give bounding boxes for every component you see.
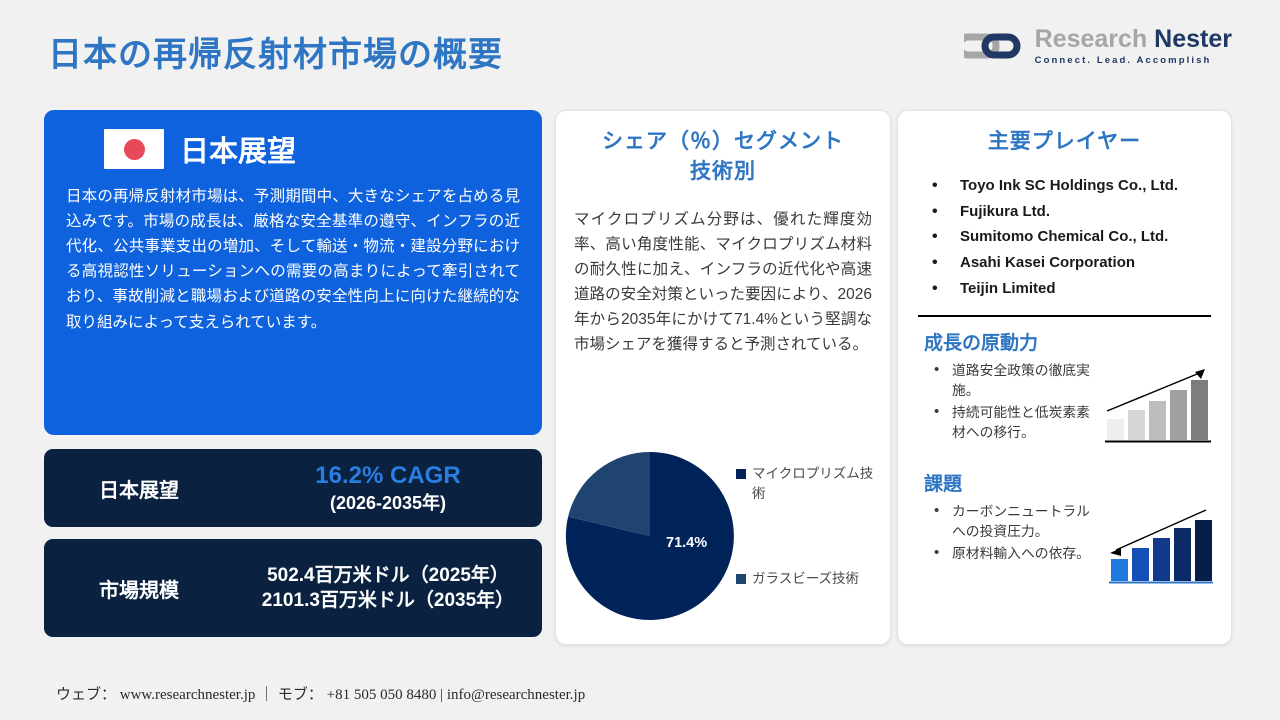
stat-cagr-value: 16.2% CAGR [234,460,542,492]
legend-label-glassbeads: ガラスビーズ技術 [752,569,859,589]
list-item: カーボンニュートラルへの投資圧力。 [928,502,1101,542]
logo-tagline: Connect. Lead. Accomplish [1035,56,1232,66]
share-segment-title-line1: シェア（％）セグメント [574,127,872,157]
growth-drivers-list: 道路安全政策の徹底実施。 持続可能性と低炭素素材への移行。 [916,361,1101,446]
japan-outlook-title: 日本展望 [180,128,296,170]
key-players-title: 主要プレイヤー [916,127,1213,157]
japan-flag-icon [104,129,164,169]
technology-share-pie-chart: 71.4% マイクロプリズム技術 ガラスビーズ技術 [556,456,892,641]
key-players-list: Toyo Ink SC Holdings Co., Ltd. Fujikura … [916,173,1213,302]
growth-drivers-section: 道路安全政策の徹底実施。 持続可能性と低炭素素材への移行。 [916,361,1213,447]
legend-item-microprism: マイクロプリズム技術 [736,464,886,505]
page-header: 日本の再帰反射材市場の概要 Research Nester Connect. L… [0,0,1280,100]
ascending-gray-bar-chart-icon [1101,363,1213,447]
share-segment-column: シェア（％）セグメント 技術別 マイクロプリズム分野は、優れた輝度効率、高い角度… [555,110,891,645]
list-item: 持続可能性と低炭素素材への移行。 [928,403,1101,443]
section-divider [918,315,1211,317]
challenges-list: カーボンニュートラルへの投資圧力。 原材料輸入への依存。 [916,502,1101,566]
stat-card-market-size: 市場規模 502.4百万米ドル（2025年） 2101.3百万米ドル（2035年… [44,539,542,637]
challenges-section: カーボンニュートラルへの投資圧力。 原材料輸入への依存。 [916,502,1213,588]
left-column: 日本展望 日本の再帰反射材市場は、予測期間中、大きなシェアを占める見込みです。市… [44,110,542,637]
pie-chart-svg [560,446,740,626]
share-segment-title-line2: 技術別 [574,157,872,187]
stat-cagr-label: 日本展望 [44,474,234,503]
legend-label-microprism: マイクロプリズム技術 [752,464,886,505]
logo-name-nester: Nester [1154,25,1232,53]
list-item: Toyo Ink SC Holdings Co., Ltd. [926,173,1213,199]
logo-text: Research Nester Connect. Lead. Accomplis… [1035,27,1232,66]
stat-size-2035: 2101.3百万米ドル（2035年） [234,588,542,613]
logo-name: Research Nester [1035,27,1232,52]
share-segment-title: シェア（％）セグメント 技術別 [574,127,872,187]
stat-cagr-values: 16.2% CAGR (2026-2035年) [234,460,542,515]
stat-size-label: 市場規模 [44,574,234,603]
stat-size-values: 502.4百万米ドル（2025年） 2101.3百万米ドル（2035年） [234,563,542,613]
right-column: 主要プレイヤー Toyo Ink SC Holdings Co., Ltd. F… [897,110,1232,645]
list-item: 原材料輸入への依存。 [928,544,1101,564]
footer-contact: ウェブ： www.researchnester.jp ｜ モブ： +81 505… [56,683,585,704]
ascending-blue-bar-chart-icon [1101,504,1213,588]
list-item: Asahi Kasei Corporation [926,250,1213,276]
stat-card-cagr: 日本展望 16.2% CAGR (2026-2035年) [44,449,542,527]
list-item: Sumitomo Chemical Co., Ltd. [926,224,1213,250]
stat-cagr-period: (2026-2035年) [234,492,542,516]
share-segment-body: マイクロプリズム分野は、優れた輝度効率、高い角度性能、マイクロプリズム材料の耐久… [574,207,872,358]
challenges-title: 課題 [924,469,1213,496]
share-segment-card: シェア（％）セグメント 技術別 マイクロプリズム分野は、優れた輝度効率、高い角度… [555,110,891,645]
list-item: Teijin Limited [926,276,1213,302]
brand-logo: Research Nester Connect. Lead. Accomplis… [964,26,1232,66]
logo-name-research: Research [1035,25,1148,53]
list-item: 道路安全政策の徹底実施。 [928,361,1101,401]
growth-drivers-title: 成長の原動力 [924,328,1213,355]
legend-swatch-microprism-icon [736,469,746,479]
pie-data-label-microprism: 71.4% [666,535,707,551]
japan-outlook-body: 日本の再帰反射材市場は、予測期間中、大きなシェアを占める見込みです。市場の成長は… [66,184,520,335]
japan-outlook-panel: 日本展望 日本の再帰反射材市場は、予測期間中、大きなシェアを占める見込みです。市… [44,110,542,435]
pie-legend: マイクロプリズム技術 ガラスビーズ技術 [736,464,886,589]
right-info-card: 主要プレイヤー Toyo Ink SC Holdings Co., Ltd. F… [897,110,1232,645]
legend-item-glassbeads: ガラスビーズ技術 [736,569,886,589]
legend-swatch-glassbeads-icon [736,574,746,584]
japan-outlook-header: 日本展望 [104,128,520,170]
interlocking-links-logo-icon [964,26,1026,66]
stat-size-2025: 502.4百万米ドル（2025年） [234,563,542,588]
page-title: 日本の再帰反射材市場の概要 [48,27,503,76]
list-item: Fujikura Ltd. [926,199,1213,225]
